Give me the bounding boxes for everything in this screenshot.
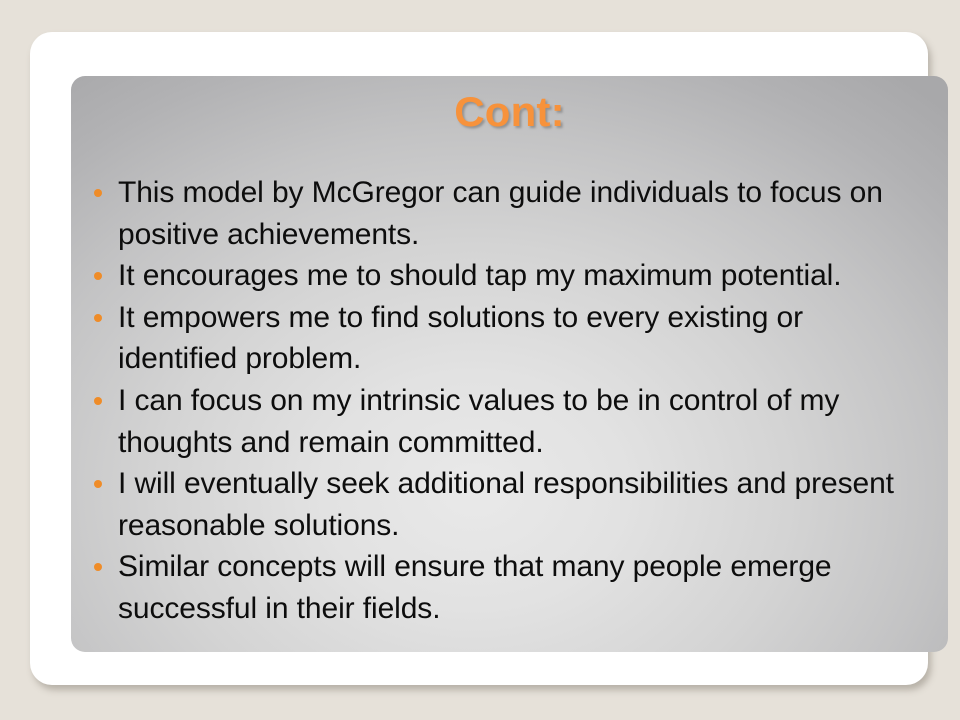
bullet-dot-icon [94, 397, 102, 405]
bullet-dot-icon [94, 189, 102, 197]
list-item-text: Similar concepts will ensure that many p… [118, 550, 831, 625]
page-title: Cont: [71, 88, 948, 136]
bullet-dot-icon [94, 563, 102, 571]
list-item: Similar concepts will ensure that many p… [71, 546, 948, 629]
list-item-text: It empowers me to find solutions to ever… [118, 301, 803, 376]
list-item: I will eventually seek additional respon… [71, 463, 948, 546]
list-item: It empowers me to find solutions to ever… [71, 297, 948, 380]
slide-root: Cont: This model by McGregor can guide i… [0, 0, 960, 720]
list-item: I can focus on my intrinsic values to be… [71, 380, 948, 463]
list-item: This model by McGregor can guide individ… [71, 172, 948, 255]
slide-card: Cont: This model by McGregor can guide i… [30, 32, 928, 685]
slide-content-panel: Cont: This model by McGregor can guide i… [71, 76, 948, 652]
bullet-dot-icon [94, 272, 102, 280]
bullet-dot-icon [94, 480, 102, 488]
bullet-list: This model by McGregor can guide individ… [71, 172, 948, 630]
list-item-text: I can focus on my intrinsic values to be… [118, 384, 839, 459]
list-item-text: This model by McGregor can guide individ… [118, 176, 883, 251]
list-item-text: I will eventually seek additional respon… [118, 467, 894, 542]
list-item: It encourages me to should tap my maximu… [71, 255, 948, 297]
bullet-dot-icon [94, 314, 102, 322]
list-item-text: It encourages me to should tap my maximu… [118, 259, 842, 292]
